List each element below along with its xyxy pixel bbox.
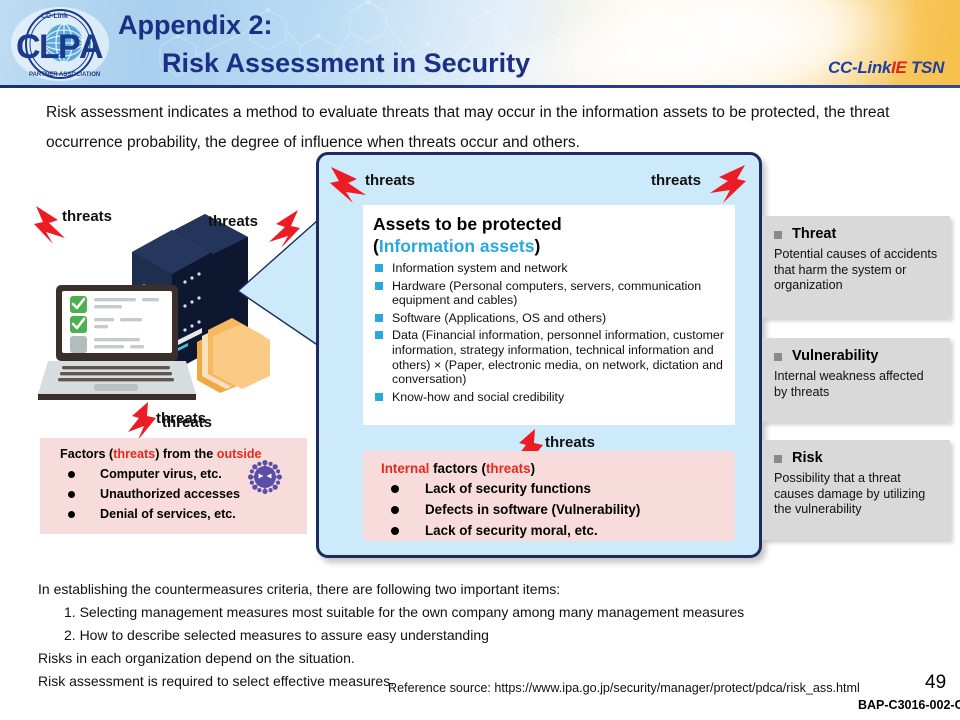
lightning-bolt-icon <box>707 163 747 205</box>
assets-white-card: Assets to be protected (Information asse… <box>363 205 735 425</box>
title-line-2: Risk Assessment in Security <box>118 44 758 82</box>
list-item: Hardware (Personal computers, servers, c… <box>373 279 725 308</box>
outside-title-b: ) from the <box>155 447 217 461</box>
threat-label-text: threats <box>62 207 112 227</box>
outside-title-red1: threats <box>113 447 155 461</box>
outside-title-a: Factors ( <box>60 447 113 461</box>
threat-label-text: threats <box>545 433 595 453</box>
definition-card-threat: Threat Potential causes of accidents tha… <box>762 216 950 318</box>
cclink-logo-part3: TSN <box>907 58 945 77</box>
assets-sub-highlight: Information assets <box>379 236 535 256</box>
threat-label-text: threats <box>651 171 701 191</box>
assets-sub-close: ) <box>534 236 540 256</box>
definition-term: Threat <box>774 225 940 244</box>
threat-label-text: threats <box>162 413 212 433</box>
list-item: Lack of security functions <box>381 479 725 498</box>
svg-text:A: A <box>79 28 104 66</box>
bottom-line-2: Risks in each organization depend on the… <box>38 647 938 670</box>
lightning-bolt-icon <box>329 165 369 205</box>
internal-title-end: ) <box>531 461 535 476</box>
svg-text:CC-Link: CC-Link <box>41 13 68 20</box>
list-item: Data (Financial information, personnel i… <box>373 328 725 386</box>
assets-title: Assets to be protected <box>373 213 725 235</box>
bottom-text-block: In establishing the countermeasures crit… <box>38 578 938 693</box>
slide-header: C L P A CC-Link PARTNER ASSOCIATION Appe… <box>0 0 960 88</box>
internal-title-mid: factors ( <box>429 461 486 476</box>
cclink-logo-part1: CC-Link <box>828 58 891 77</box>
svg-text:P: P <box>58 28 81 66</box>
internal-factors-title: Internal factors (threats) <box>381 460 725 477</box>
definition-description: Internal weakness affected by threats <box>774 369 940 400</box>
definition-term: Risk <box>774 449 940 468</box>
threat-label-text: threats <box>365 171 415 191</box>
cclink-ie-tsn-logo: CC-LinkIE TSN <box>828 58 944 78</box>
definition-description: Potential causes of accidents that harm … <box>774 247 940 294</box>
lightning-bolt-icon <box>128 402 158 440</box>
internal-factors-box: Internal factors (threats) Lack of secur… <box>363 451 735 541</box>
bottom-item-2: 2. How to describe selected measures to … <box>38 624 938 647</box>
assets-subtitle: (Information assets) <box>373 235 725 257</box>
intro-paragraph: Risk assessment indicates a method to ev… <box>46 98 926 158</box>
svg-text:C: C <box>16 28 41 66</box>
definition-card-risk: Risk Possibility that a threat causes da… <box>762 440 950 540</box>
list-item: Denial of services, etc. <box>60 505 299 524</box>
virus-icon <box>248 460 282 494</box>
bottom-line-1: In establishing the countermeasures crit… <box>38 578 938 601</box>
list-item: Know-how and social credibility <box>373 390 725 405</box>
definition-card-vulnerability: Vulnerability Internal weakness affected… <box>762 338 950 422</box>
bottom-item-1: 1. Selecting management measures most su… <box>38 601 938 624</box>
document-code: BAP-C3016-002-C <box>858 698 960 712</box>
internal-title-red2: threats <box>486 461 531 476</box>
list-item: Defects in software (Vulnerability) <box>381 500 725 519</box>
title-line-1: Appendix 2: <box>118 6 758 44</box>
header-divider <box>0 85 960 88</box>
page-number: 49 <box>925 672 946 694</box>
assets-list: Information system and network Hardware … <box>373 261 725 404</box>
definition-description: Possibility that a threat causes damage … <box>774 471 940 518</box>
internal-title-red1: Internal <box>381 461 429 476</box>
page-title: Appendix 2: Risk Assessment in Security <box>118 6 758 82</box>
list-item: Lack of security moral, etc. <box>381 521 725 540</box>
list-item: Information system and network <box>373 261 725 276</box>
definition-term: Vulnerability <box>774 347 940 366</box>
outside-title-red2: outside <box>217 447 262 461</box>
reference-source: Reference source: https://www.ipa.go.jp/… <box>388 680 860 696</box>
internal-factors-list: Lack of security functions Defects in so… <box>381 479 725 540</box>
assets-callout-box: threats threats Assets to be protected (… <box>316 152 762 558</box>
svg-text:L: L <box>39 28 60 66</box>
laptop-graphic <box>38 285 196 400</box>
clpa-logo: C L P A CC-Link PARTNER ASSOCIATION <box>8 4 112 84</box>
cclink-logo-part2: IE <box>891 58 906 77</box>
list-item: Software (Applications, OS and others) <box>373 311 725 326</box>
svg-text:PARTNER ASSOCIATION: PARTNER ASSOCIATION <box>29 72 100 78</box>
